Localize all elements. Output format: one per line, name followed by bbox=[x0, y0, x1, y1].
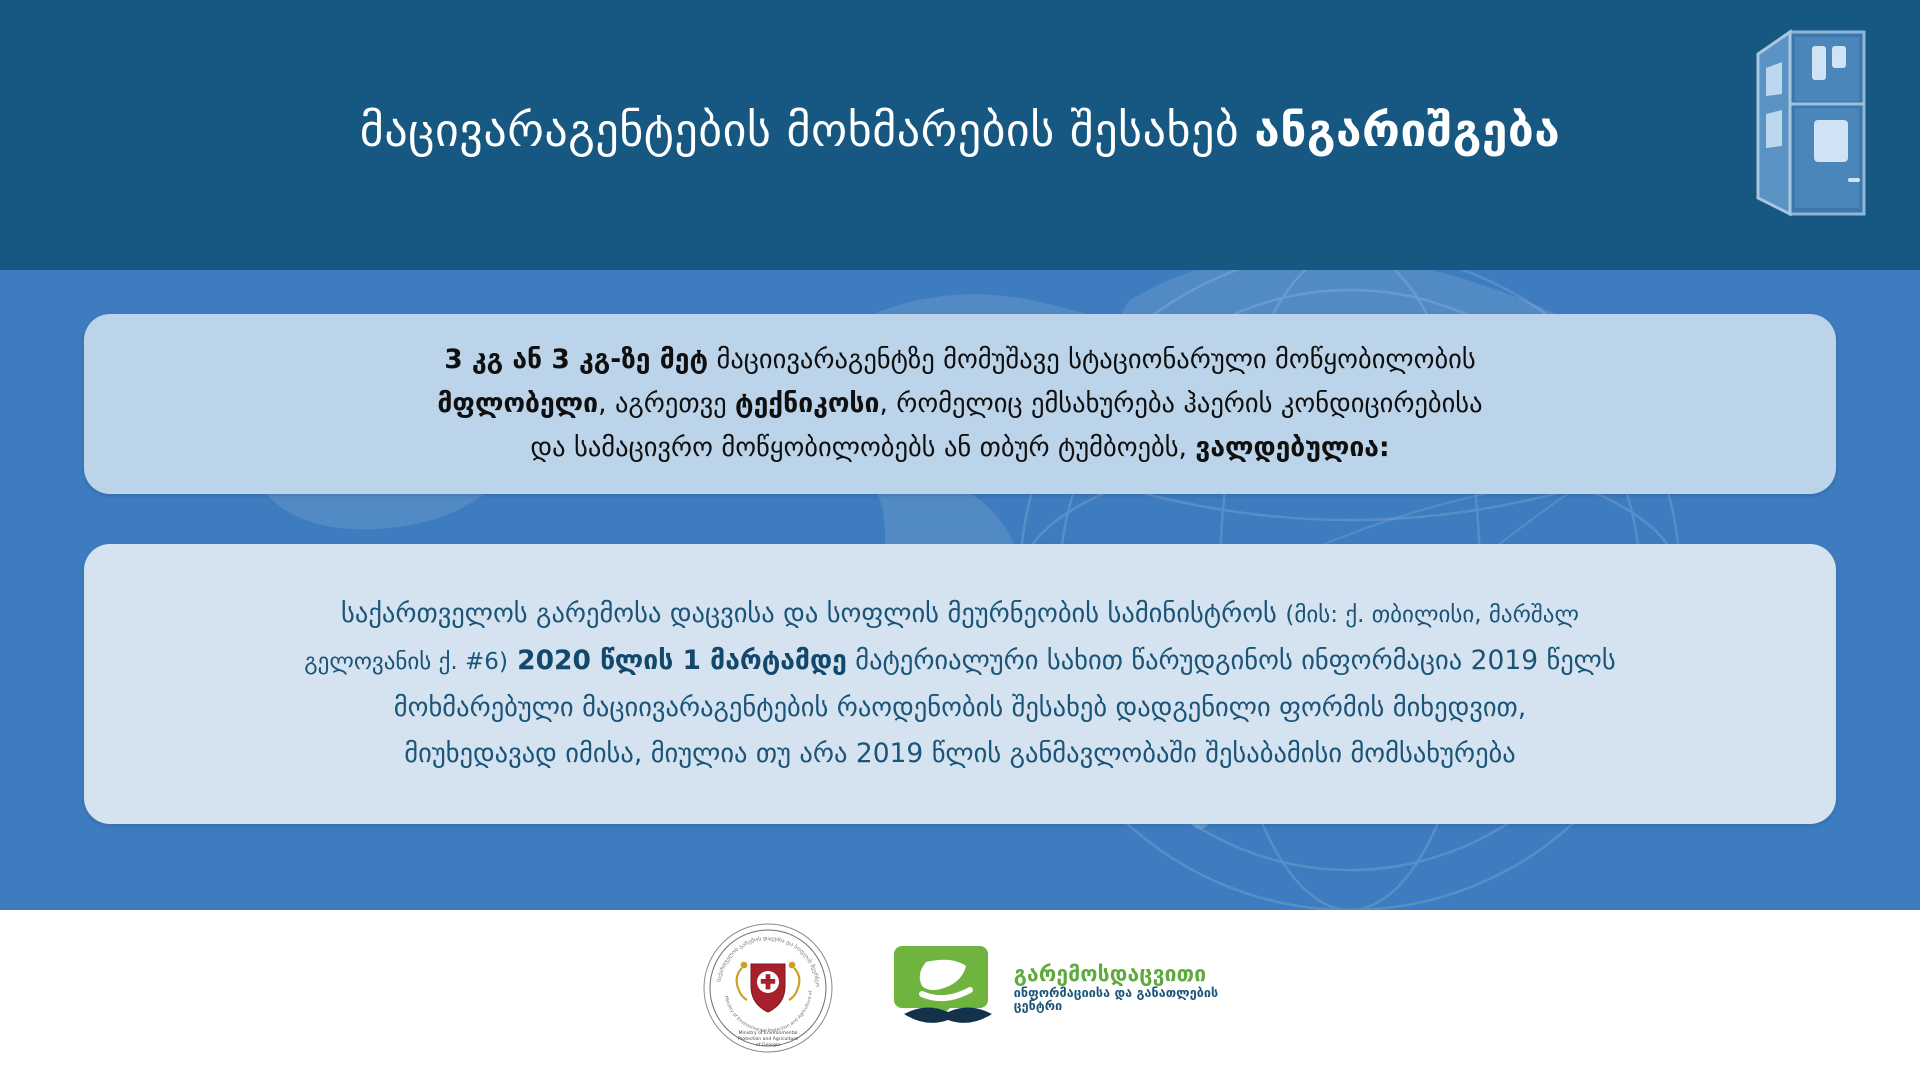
requirement-line-2-a: , აგრეთვე bbox=[598, 388, 735, 419]
requirement-line-2-b: , რომელიც ემსახურება ჰაერის კონდიცირების… bbox=[879, 388, 1482, 419]
instruction-ministry-name: საქართველოს გარემოსა დაცვისა და სოფლის მ… bbox=[341, 598, 1285, 629]
instruction-address-part-2: გელოვანის ქ. #6) bbox=[304, 649, 508, 675]
instruction-line-4-text: მიუხედავად იმისა, მიულია თუ არა 2019 წლი… bbox=[404, 738, 1515, 769]
requirement-box-text: 3 კგ ან 3 კგ-ზე მეტ მაციივარაგენტზე მომუ… bbox=[130, 314, 1790, 494]
refrigerator-icon bbox=[1752, 28, 1880, 218]
requirement-line-2: მფლობელი, აგრეთვე ტექნიკოსი, რომელიც ემს… bbox=[437, 382, 1482, 426]
instruction-line-3: მოხმარებული მაციივარაგენტების რაოდენობის… bbox=[394, 685, 1526, 731]
content-panel: 3 კგ ან 3 კგ-ზე მეტ მაციივარაგენტზე მომუ… bbox=[0, 270, 1920, 910]
slide-root: მაცივარაგენტების მოხმარების შესახებ ანგა… bbox=[0, 0, 1920, 1080]
page-title: მაცივარაგენტების მოხმარების შესახებ ანგა… bbox=[0, 104, 1920, 157]
env-centre-logo-line-1: გარემოსდაცვითი bbox=[1014, 963, 1218, 986]
env-centre-logo-mark-icon bbox=[892, 942, 1004, 1034]
env-centre-logo: გარემოსდაცვითი ინფორმაციისა და განათლები… bbox=[892, 942, 1218, 1034]
header-banner: მაცივარაგენტების მოხმარების შესახებ ანგა… bbox=[0, 0, 1920, 270]
instruction-line-3-text: მოხმარებული მაციივარაგენტების რაოდენობის… bbox=[394, 692, 1526, 723]
requirement-box: 3 კგ ან 3 კგ-ზე მეტ მაციივარაგენტზე მომუ… bbox=[84, 314, 1836, 494]
env-centre-logo-line-2: ინფორმაციისა და განათლების bbox=[1014, 986, 1218, 1000]
requirement-owner: მფლობელი bbox=[437, 388, 598, 419]
requirement-technician: ტექნიკოსი bbox=[735, 388, 879, 419]
requirement-line-1: 3 კგ ან 3 კგ-ზე მეტ მაციივარაგენტზე მომუ… bbox=[444, 338, 1475, 382]
requirement-weight-threshold: 3 კგ ან 3 კგ-ზე მეტ bbox=[444, 344, 708, 375]
page-title-bold: ანგარიშგება bbox=[1254, 103, 1560, 157]
instruction-line-2: გელოვანის ქ. #6) 2020 წლის 1 მარტამდე მა… bbox=[304, 638, 1615, 685]
page-title-regular: მაცივარაგენტების მოხმარების შესახებ bbox=[360, 103, 1255, 157]
env-centre-logo-text: გარემოსდაცვითი ინფორმაციისა და განათლები… bbox=[1014, 963, 1218, 1013]
footer-bar: საქართველოს გარემოს დაცვისა და სოფლის მე… bbox=[0, 910, 1920, 1080]
requirement-line-1-rest: მაციივარაგენტზე მომუშავე სტაციონარული მო… bbox=[708, 344, 1476, 375]
svg-text:Ministry of Environmental: Ministry of Environmental bbox=[738, 1030, 797, 1036]
instruction-box: საქართველოს გარემოსა დაცვისა და სოფლის მ… bbox=[84, 544, 1836, 824]
ministry-seal-icon: საქართველოს გარემოს დაცვისა და სოფლის მე… bbox=[702, 922, 834, 1054]
instruction-line-4: მიუხედავად იმისა, მიულია თუ არა 2019 წლი… bbox=[404, 731, 1515, 777]
instruction-deadline: 2020 წლის 1 მარტამდე bbox=[508, 645, 847, 676]
instruction-line-2-rest: მატერიალური სახით წარუდგინოს ინფორმაცია … bbox=[847, 645, 1616, 676]
env-centre-logo-line-3: ცენტრი bbox=[1014, 999, 1218, 1013]
footer-logos: საქართველოს გარემოს დაცვისა და სოფლის მე… bbox=[0, 922, 1920, 1054]
requirement-line-3: და სამაცივრო მოწყობილობებს ან თბურ ტუმბო… bbox=[530, 426, 1389, 470]
svg-text:Protection and Agriculture: Protection and Agriculture bbox=[738, 1036, 798, 1042]
instruction-address-part-1: (მის: ქ. თბილისი, მარშალ bbox=[1285, 602, 1579, 628]
svg-text:of Georgia: of Georgia bbox=[756, 1042, 780, 1048]
requirement-line-3-a: და სამაცივრო მოწყობილობებს ან თბურ ტუმბო… bbox=[530, 432, 1195, 463]
instruction-line-1: საქართველოს გარემოსა დაცვისა და სოფლის მ… bbox=[341, 591, 1579, 638]
instruction-box-text: საქართველოს გარემოსა დაცვისა და სოფლის მ… bbox=[130, 544, 1790, 824]
requirement-obligation: ვალდებულია: bbox=[1195, 432, 1389, 463]
